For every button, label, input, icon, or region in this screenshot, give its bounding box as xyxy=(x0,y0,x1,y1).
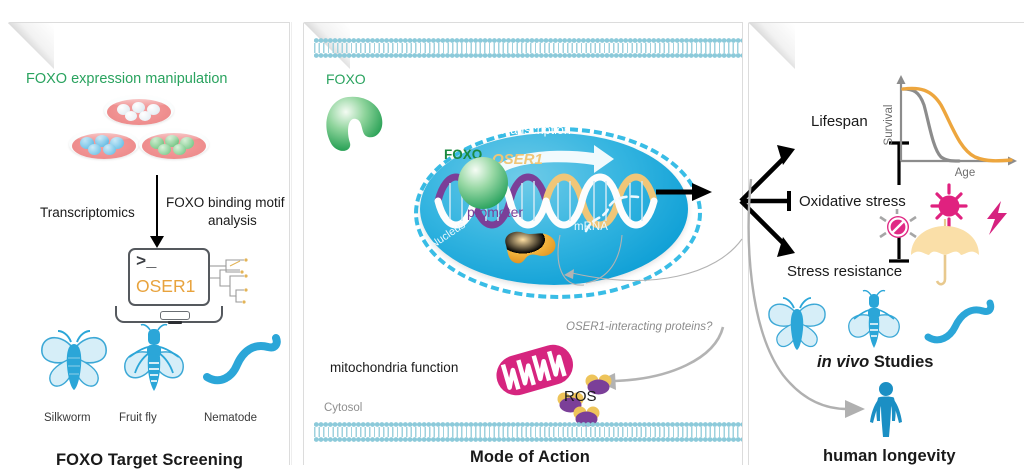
petri-dish-blue xyxy=(69,129,139,163)
page-fold-corner-right xyxy=(749,23,797,71)
panel-title-middle: Mode of Action xyxy=(470,448,590,467)
label-mrna: mRNA xyxy=(574,221,608,233)
outcome-label-lifespan: Lifespan xyxy=(811,113,868,130)
left-heading: FOXO expression manipulation xyxy=(26,71,228,87)
figure-root: FOXO expression manipulation xyxy=(0,0,1024,465)
virus-icon xyxy=(880,209,916,238)
label-transcriptomics: Transcriptomics xyxy=(40,205,135,220)
label-promoter: promoter xyxy=(467,204,523,220)
human-translation-arrow xyxy=(743,179,883,419)
panel-title-left: FOXO Target Screening xyxy=(56,451,243,470)
organism-label-silkworm: Silkworm xyxy=(44,412,91,424)
umbrella-icon xyxy=(911,219,979,284)
nematode-icon xyxy=(925,297,993,351)
petri-dish-white xyxy=(104,95,174,129)
panel-title-right: human longevity xyxy=(823,447,956,466)
label-mitochondria-function: mitochondria function xyxy=(330,360,458,375)
nuclear-export-arrow xyxy=(656,181,718,203)
plasma-membrane-bottom xyxy=(314,421,742,443)
terminal-prompt: >_ xyxy=(136,253,156,272)
organism-label-nematode: Nematode xyxy=(204,412,257,424)
label-transcription: Transcription xyxy=(499,123,571,137)
organism-label-fruitfly: Fruit fly xyxy=(119,412,157,424)
panel-foxo-target-screening: FOXO expression manipulation xyxy=(8,22,290,465)
page-fold-corner-left xyxy=(8,23,56,71)
label-cytosol: Cytosol xyxy=(324,402,362,414)
chart-ylabel: Survival xyxy=(883,105,895,146)
chart-xlabel: Age xyxy=(955,167,975,179)
label-foxo-cytosolic: FOXO xyxy=(326,71,366,87)
nematode-icon xyxy=(204,331,280,393)
label-motif-line2: analysis xyxy=(208,213,257,228)
screening-flow-arrow xyxy=(156,175,158,237)
sun-icon xyxy=(932,185,966,227)
silkworm-icon xyxy=(38,328,110,396)
panel-mode-of-action: FOXO FOXO Transcription OSER1 xyxy=(303,22,743,465)
phylogenetic-tree-icon xyxy=(210,252,272,312)
lightning-icon xyxy=(987,201,1007,235)
label-ros: ROS xyxy=(564,388,597,405)
foxo-protein-icon xyxy=(322,91,394,155)
panel-outcomes: Lifespan Oxidative stress Stress resista… xyxy=(748,22,1024,465)
survival-curve-chart: Survival Age xyxy=(879,65,1019,177)
plasma-membrane-top xyxy=(314,37,742,59)
panel-divider-1 xyxy=(291,22,292,465)
label-motif-line1: FOXO binding motif xyxy=(166,195,285,210)
fruitfly-icon xyxy=(121,323,187,397)
stress-icons-group xyxy=(877,183,1017,291)
terminal-gene-hit: OSER1 xyxy=(136,276,195,297)
petri-dish-green xyxy=(139,129,209,163)
